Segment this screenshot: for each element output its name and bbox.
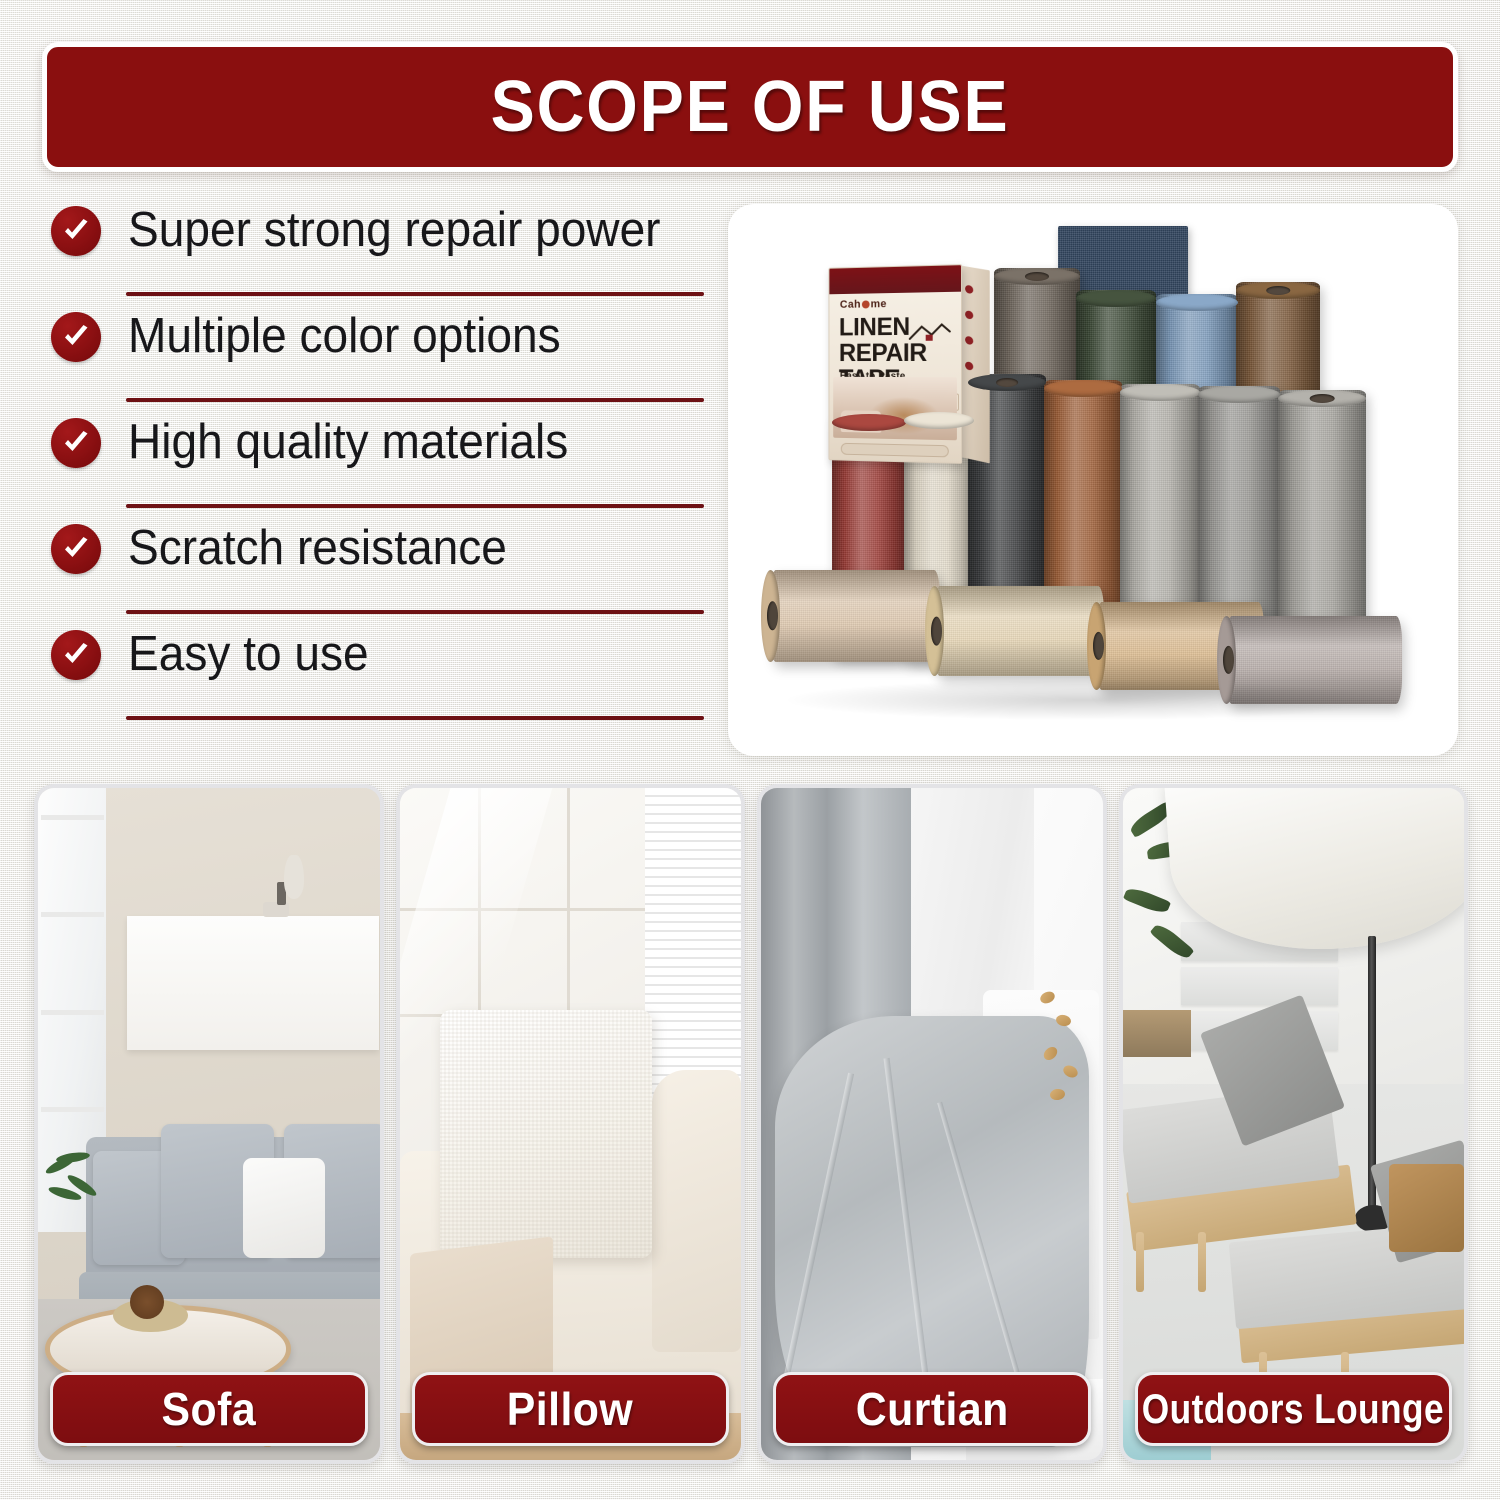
feature-item-1: Multiple color options (44, 304, 704, 410)
decor-bowl (263, 902, 289, 917)
feature-item-2: High quality materials (44, 410, 704, 516)
pillow-scene-image (400, 788, 742, 1460)
page-title: SCOPE OF USE (491, 66, 1010, 148)
check-circle-icon (51, 524, 101, 574)
check-circle-icon (51, 418, 101, 468)
check-circle-icon (51, 630, 101, 680)
roll-top (904, 412, 974, 429)
product-ground-shadow (788, 680, 1388, 720)
panel-label-badge-sofa: Sofa (50, 1372, 368, 1446)
dried-eucalyptus (1038, 983, 1093, 1131)
roll-core-hole (1093, 632, 1104, 660)
panel-label-badge-pillow: Pillow (412, 1372, 730, 1446)
sofa-armrest (652, 1070, 741, 1352)
box-title-line1: LINEN (839, 313, 910, 342)
potted-plant (41, 1151, 99, 1245)
box-size-spec (841, 443, 949, 458)
roll-top (1044, 380, 1122, 397)
feature-label: Multiple color options (128, 304, 561, 368)
sofa-white-pillow (243, 1158, 325, 1259)
panel-sofa[interactable]: Sofa (34, 784, 384, 1464)
roll-top (1198, 386, 1280, 403)
product-image-card: Cahme LINEN REPAIR TAPE Easy to Paste Qu… (728, 204, 1458, 756)
feature-divider (126, 292, 704, 296)
decor-pinecone (130, 1285, 164, 1319)
curtain-scene-image (761, 788, 1103, 1460)
panel-label: Pillow (507, 1382, 633, 1436)
panel-outdoors-lounge[interactable]: Outdoors Lounge (1119, 784, 1469, 1464)
panel-label-badge-outdoors: Outdoors Lounge (1135, 1372, 1453, 1446)
panel-curtain[interactable]: Curtian (757, 784, 1107, 1464)
roll-top (1120, 384, 1200, 401)
roll-body (770, 570, 940, 662)
tape-rolls-product-photo: Cahme LINEN REPAIR TAPE Easy to Paste Qu… (728, 204, 1458, 756)
lounger-leg (1136, 1232, 1144, 1292)
decor-vase (284, 855, 304, 899)
roll-core-hole (931, 617, 942, 646)
roll-top (832, 414, 906, 431)
feature-list: Super strong repair power Multiple color… (44, 198, 704, 758)
brand-logo: Cahme (840, 298, 887, 311)
box-lifestyle-photo (833, 377, 957, 441)
box-front-panel: Cahme LINEN REPAIR TAPE Easy to Paste Qu… (828, 264, 962, 464)
check-circle-icon (51, 312, 101, 362)
box-top-band (829, 265, 961, 294)
outdoors-scene-image (1123, 788, 1465, 1460)
warm-grey-tape-roll (1278, 390, 1366, 648)
roll-core-hole (1025, 272, 1049, 281)
white-throw-pillow (440, 1010, 652, 1259)
roll-core-hole (1266, 286, 1290, 295)
feature-divider (126, 398, 704, 402)
lounger-leg (1198, 1232, 1206, 1292)
wall-cabinet (127, 916, 380, 1050)
product-box: Cahme LINEN REPAIR TAPE Easy to Paste Qu… (828, 264, 962, 464)
light-grey-tape-roll (1120, 384, 1200, 638)
feature-label: High quality materials (128, 410, 568, 474)
panel-pillow[interactable]: Pillow (396, 784, 746, 1464)
check-circle-icon (51, 206, 101, 256)
roll-top (1156, 294, 1238, 311)
roll-core-hole (1223, 646, 1234, 674)
feature-divider (126, 716, 704, 720)
feature-item-3: Scratch resistance (44, 516, 704, 622)
box-side-panel (960, 265, 990, 463)
roll-core-hole (996, 378, 1018, 387)
sofa-scene-image (38, 788, 380, 1460)
panel-label: Curtian (855, 1382, 1008, 1436)
header-banner: SCOPE OF USE (42, 42, 1458, 172)
brown-accent-pillow (1389, 1164, 1464, 1251)
panel-label-badge-curtain: Curtian (773, 1372, 1091, 1446)
roll-core-hole (1310, 394, 1335, 403)
panel-label: Outdoors Lounge (1142, 1385, 1444, 1433)
use-case-panels: Sofa Pillow (34, 784, 1468, 1464)
roll-body (934, 586, 1104, 676)
feature-label: Super strong repair power (128, 198, 661, 262)
feature-divider (126, 610, 704, 614)
house-roof-icon (908, 318, 952, 345)
feature-divider (126, 504, 704, 508)
box-feature-bullets (965, 285, 973, 389)
feature-item-4: Easy to use (44, 622, 704, 728)
roll-top (1076, 290, 1156, 307)
beige-tape-roll-lying (770, 570, 940, 662)
feature-label: Scratch resistance (128, 516, 507, 580)
feature-label: Easy to use (128, 622, 369, 686)
sand-tape-roll-lying (934, 586, 1104, 676)
panel-label: Sofa (161, 1382, 256, 1436)
feature-item-0: Super strong repair power (44, 198, 704, 304)
